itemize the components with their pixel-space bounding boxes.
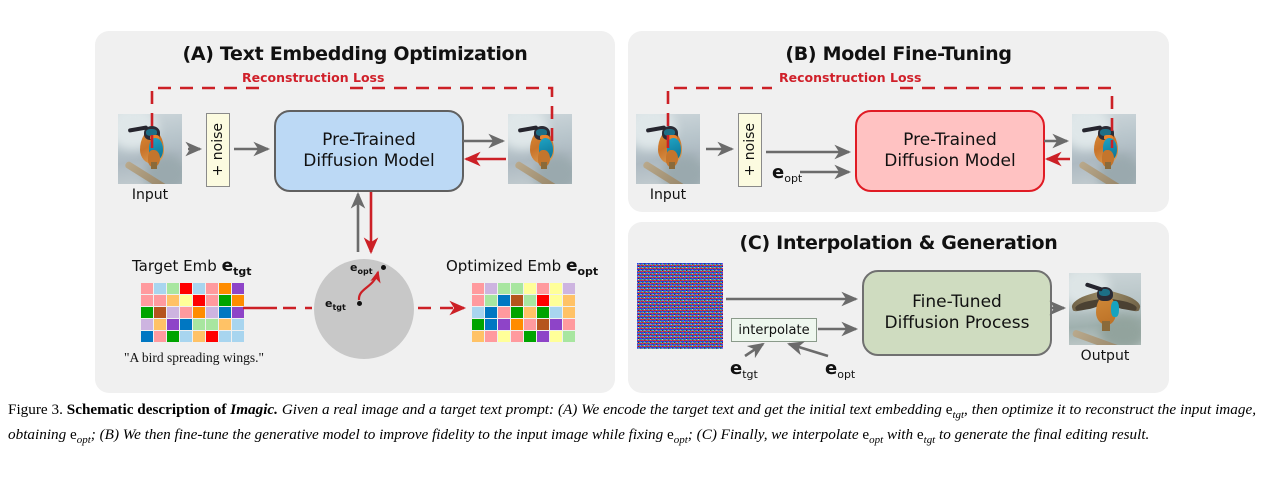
embedding-cell [485,331,497,342]
embedding-cell [141,283,153,294]
panel-c-eopt-symbol: e [825,358,837,379]
embedding-cell [472,295,484,306]
embedding-cell [167,283,179,294]
embedding-cell [524,295,536,306]
caption-e-tgt-2: etgt [917,426,935,443]
panel-a-model-label-line2: Diffusion Model [303,151,435,172]
caption-e-opt-1: eopt [70,426,91,443]
latent-etgt-subscript: tgt [332,303,345,312]
embedding-cell [219,307,231,318]
panel-a-pretrained-diffusion-model-box: Pre-Trained Diffusion Model [274,110,464,192]
embedding-cell [232,295,244,306]
embedding-cell [219,283,231,294]
panel-b-add-noise-box: + noise [738,113,762,187]
embedding-cell [498,331,510,342]
embedding-cell [193,319,205,330]
panel-a-title: (A) Text Embedding Optimization [95,43,615,65]
embedding-cell [141,319,153,330]
embedding-cell [206,283,218,294]
caption-e-tgt-1: etgt [946,401,964,418]
figure-imagic-schematic: (A) Text Embedding Optimization Reconstr… [0,0,1264,487]
embedding-cell [563,319,575,330]
panel-a-target-embedding-grid [141,283,244,342]
embedding-cell [180,331,192,342]
figure-caption: Figure 3. Schematic description of Imagi… [8,399,1256,448]
embedding-cell [219,319,231,330]
panel-b-input-caption: Input [626,187,710,203]
embedding-cell [193,295,205,306]
embedding-cell [141,331,153,342]
embedding-cell [472,307,484,318]
embedding-cell [537,307,549,318]
embedding-cell [511,319,523,330]
caption-segment-6: to generate the final editing result. [935,426,1149,443]
panel-a-prompt-text: "A bird spreading wings." [124,350,264,366]
embedding-cell [563,331,575,342]
embedding-cell [537,331,549,342]
embedding-cell [498,307,510,318]
embedding-cell [472,331,484,342]
embedding-cell [154,283,166,294]
embedding-cell [206,331,218,342]
panel-c-eopt-subscript: opt [837,368,855,381]
panel-c-noise-image [637,263,723,349]
embedding-cell [485,319,497,330]
optimized-emb-subscript: opt [577,265,598,278]
embedding-cell [219,331,231,342]
optimized-emb-text: Optimized Emb [446,257,566,275]
embedding-cell [498,283,510,294]
caption-segment-5: with [883,426,917,443]
panel-a-optimized-embedding-grid [472,283,575,342]
panel-b-model-label-line1: Pre-Trained [884,130,1016,151]
embedding-cell [524,307,536,318]
caption-segment-1: Given a real image and a target text pro… [278,401,946,418]
caption-segment-4: ; (C) Finally, we interpolate [688,426,863,443]
panel-b-eopt-label: eopt [772,162,802,185]
panel-a-input-image [118,114,182,184]
embedding-cell [563,295,575,306]
embedding-cell [180,319,192,330]
embedding-cell [537,319,549,330]
embedding-cell [498,319,510,330]
caption-prefix: Figure 3. [8,401,63,418]
embedding-cell [524,319,536,330]
embedding-cell [511,331,523,342]
embedding-cell [524,331,536,342]
embedding-cell [193,307,205,318]
embedding-cell [498,295,510,306]
embedding-cell [180,307,192,318]
embedding-cell [206,319,218,330]
embedding-cell [563,283,575,294]
panel-a-reconstruction-image [508,114,572,184]
target-emb-subscript: tgt [233,265,251,278]
panel-a-input-caption: Input [108,187,192,203]
embedding-cell [167,331,179,342]
panel-b-add-noise-label: + noise [742,123,758,176]
embedding-cell [232,283,244,294]
embedding-cell [472,319,484,330]
panel-b-pretrained-diffusion-model-box: Pre-Trained Diffusion Model [855,110,1045,192]
panel-b-eopt-symbol: e [772,162,784,183]
embedding-cell [154,295,166,306]
caption-bold: Schematic description of [67,401,230,418]
embedding-cell [232,307,244,318]
embedding-cell [472,283,484,294]
target-emb-text: Target Emb [132,257,222,275]
caption-segment-3: ; (B) We then fine-tune the generative m… [91,426,667,443]
embedding-cell [485,283,497,294]
panel-c-eopt-label: eopt [825,358,855,381]
embedding-cell [537,295,549,306]
optimized-emb-symbol: e [566,256,578,276]
panel-c-output-caption: Output [1058,348,1152,364]
panel-a-target-emb-label: Target Emb etgt [132,256,251,278]
panel-b-reconstruction-image [1072,114,1136,184]
panel-c-model-label-line2: Diffusion Process [885,313,1030,334]
panel-b-reconstruction-loss-label: Reconstruction Loss [775,70,925,85]
target-emb-symbol: e [222,256,234,276]
embedding-cell [219,295,231,306]
panel-c-etgt-symbol: e [730,358,742,379]
caption-e-opt-3: eopt [862,426,883,443]
embedding-cell [550,283,562,294]
panel-b-eopt-subscript: opt [784,172,802,185]
panel-a-latent-etgt-dot [357,301,362,306]
embedding-cell [206,295,218,306]
panel-a-latent-etgt-label: etgt [325,297,346,312]
embedding-cell [193,283,205,294]
embedding-cell [167,307,179,318]
caption-bold-italic: Imagic. [230,401,278,418]
embedding-cell [550,307,562,318]
embedding-cell [550,331,562,342]
embedding-cell [180,295,192,306]
panel-c-finetuned-diffusion-process-box: Fine-Tuned Diffusion Process [862,270,1052,356]
embedding-cell [206,307,218,318]
panel-a-optimized-emb-label: Optimized Emb eopt [446,256,598,278]
panel-c-etgt-label: etgt [730,358,758,381]
embedding-cell [550,319,562,330]
random-noise-texture [637,263,723,349]
embedding-cell [154,307,166,318]
panel-a-add-noise-label: + noise [210,123,226,176]
panel-a-latent-eopt-dot [381,265,386,270]
embedding-cell [154,331,166,342]
embedding-cell [511,295,523,306]
panel-a-model-label-line1: Pre-Trained [303,130,435,151]
panel-a-reconstruction-loss-label: Reconstruction Loss [238,70,388,85]
panel-c-output-image [1069,273,1141,345]
panel-c-interpolate-box: interpolate [731,318,817,342]
embedding-cell [141,307,153,318]
embedding-cell [511,283,523,294]
panel-c-model-label-line1: Fine-Tuned [885,292,1030,313]
panel-a-latent-eopt-label: eopt [350,261,373,276]
embedding-cell [232,319,244,330]
embedding-cell [232,331,244,342]
caption-e-opt-2: eopt [667,426,688,443]
embedding-cell [180,283,192,294]
panel-b-model-label-line2: Diffusion Model [884,151,1016,172]
panel-c-title: (C) Interpolation & Generation [628,232,1169,254]
panel-b-title: (B) Model Fine-Tuning [628,43,1169,65]
panel-a-add-noise-box: + noise [206,113,230,187]
embedding-cell [154,319,166,330]
panel-b-input-image [636,114,700,184]
embedding-cell [524,283,536,294]
latent-eopt-subscript: opt [357,267,372,276]
embedding-cell [193,331,205,342]
embedding-cell [511,307,523,318]
embedding-cell [141,295,153,306]
embedding-cell [167,319,179,330]
embedding-cell [537,283,549,294]
embedding-cell [167,295,179,306]
embedding-cell [563,307,575,318]
embedding-cell [485,307,497,318]
panel-c-etgt-subscript: tgt [742,368,758,381]
panel-c-interpolate-label: interpolate [738,323,809,338]
embedding-cell [550,295,562,306]
embedding-cell [485,295,497,306]
